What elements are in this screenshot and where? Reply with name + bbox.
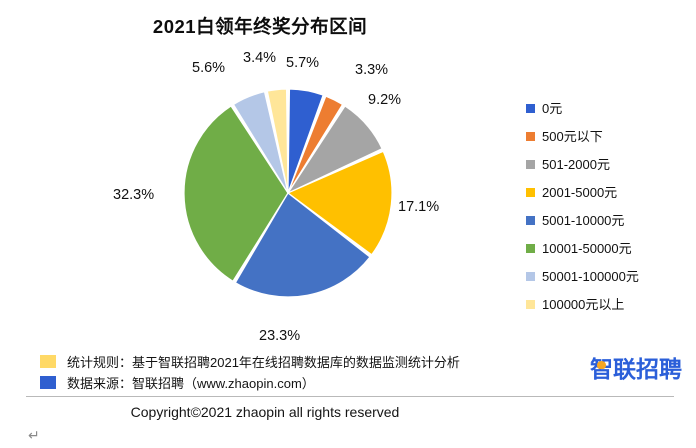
pie-svg [183, 88, 393, 298]
legend-item-label: 100000元以上 [542, 298, 624, 311]
footnote-text: 数据来源：智联招聘（www.zhaopin.com） [67, 373, 315, 392]
slice-label-7: 3.4% [243, 50, 276, 66]
footer-divider [26, 396, 674, 397]
legend-swatch-icon [526, 216, 535, 225]
slice-label-0: 5.7% [286, 55, 319, 71]
legend-item[interactable]: 50001-100000元 [526, 262, 691, 290]
footnote-row: 统计规则：基于智联招聘2021年在线招聘数据库的数据监测统计分析 [40, 351, 540, 372]
return-icon: ↵ [28, 428, 40, 442]
legend-item-label: 2001-5000元 [542, 186, 617, 199]
slice-label-2: 9.2% [368, 92, 401, 108]
legend-item-label: 5001-10000元 [542, 214, 624, 227]
legend-item-label: 0元 [542, 102, 562, 115]
legend-item-label: 50001-100000元 [542, 270, 639, 283]
footnote-swatch-icon [40, 355, 56, 368]
brand-logo: 智联招聘 [590, 358, 682, 381]
legend-item[interactable]: 0元 [526, 94, 691, 122]
legend-swatch-icon [526, 132, 535, 141]
legend-swatch-icon [526, 300, 535, 309]
legend-swatch-icon [526, 104, 535, 113]
legend-item[interactable]: 501-2000元 [526, 150, 691, 178]
legend-swatch-icon [526, 188, 535, 197]
slice-label-4: 23.3% [259, 328, 300, 344]
legend-swatch-icon [526, 160, 535, 169]
footnote-row: 数据来源：智联招聘（www.zhaopin.com） [40, 372, 540, 393]
legend-item-label: 500元以下 [542, 130, 603, 143]
legend-item[interactable]: 2001-5000元 [526, 178, 691, 206]
slice-label-3: 17.1% [398, 199, 439, 215]
copyright-text: Copyright©2021 zhaopin all rights reserv… [0, 404, 530, 420]
legend-item[interactable]: 5001-10000元 [526, 206, 691, 234]
legend-swatch-icon [526, 244, 535, 253]
legend-item[interactable]: 100000元以上 [526, 290, 691, 318]
legend-item[interactable]: 10001-50000元 [526, 234, 691, 262]
footnote-text: 统计规则：基于智联招聘2021年在线招聘数据库的数据监测统计分析 [67, 352, 460, 371]
footnotes: 统计规则：基于智联招聘2021年在线招聘数据库的数据监测统计分析数据来源：智联招… [40, 351, 540, 393]
slice-label-1: 3.3% [355, 62, 388, 78]
legend-item-label: 10001-50000元 [542, 242, 632, 255]
page-title: 2021白领年终奖分布区间 [0, 13, 520, 39]
legend-item-label: 501-2000元 [542, 158, 610, 171]
chart-canvas: 2021白领年终奖分布区间 5.7% 3.3% 9.2% 17.1% 23.3%… [0, 0, 696, 448]
chart-legend: 0元500元以下501-2000元2001-5000元5001-10000元10… [526, 94, 691, 318]
legend-item[interactable]: 500元以下 [526, 122, 691, 150]
logo-first-char: 智 [590, 358, 613, 381]
footnote-swatch-icon [40, 376, 56, 389]
legend-swatch-icon [526, 272, 535, 281]
logo-rest-chars: 联招聘 [613, 356, 682, 382]
pie-chart [183, 88, 393, 298]
slice-label-5: 32.3% [113, 187, 154, 203]
slice-label-6: 5.6% [192, 60, 225, 76]
